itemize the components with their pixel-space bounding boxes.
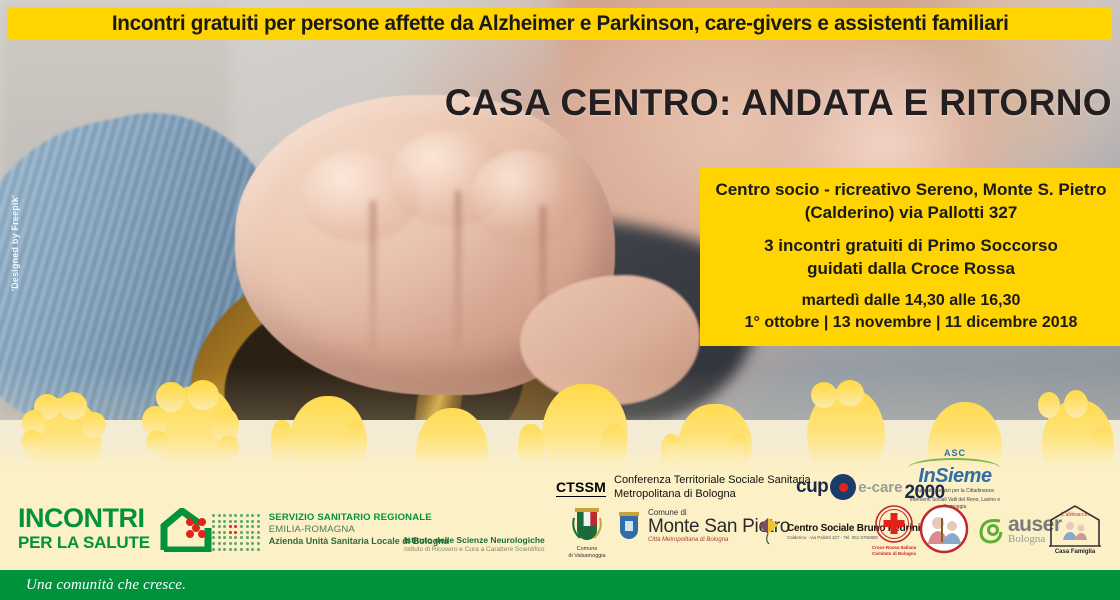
photo-credit: 'Designed by Freepik' (10, 178, 20, 308)
cri-line1: Croce Rossa Italiana (866, 545, 922, 551)
valsamoggia-line2: di Valsamoggia (556, 553, 618, 560)
event-venue-line1: Centro socio - ricreativo Sereno, Monte … (708, 178, 1114, 201)
event-description: 3 incontri gratuiti di Primo Soccorso (708, 234, 1114, 257)
logo-anziani-circle (916, 504, 972, 554)
coat-of-arms-icon (616, 509, 642, 543)
svg-text:L'abbraccio: L'abbraccio (1061, 512, 1089, 518)
top-banner: Incontri gratuiti per persone affette da… (8, 8, 1112, 40)
logo-ctssm: CTSSM Conferenza Territoriale Sociale Sa… (556, 474, 811, 502)
ssr-line1: SERVIZIO SANITARIO REGIONALE (269, 512, 449, 523)
poster: Incontri gratuiti per persone affette da… (0, 0, 1120, 600)
photo-finger-gap (455, 190, 461, 350)
ctssm-line1: Conferenza Territoriale Sociale Sanitari… (614, 474, 811, 488)
logo-asc-insieme: ASC InSieme Azienda Servizi per la Citta… (900, 452, 1010, 510)
auser-leaf-icon (976, 516, 1004, 544)
page-title: CASA CENTRO: ANDATA E RITORNO (440, 84, 1112, 123)
logo-abbraccio-casa-famiglia: L'abbraccio Casa Famiglia (1042, 502, 1108, 555)
isnb-line2: Istituto di Ricovero e Cura a Carattere … (404, 546, 545, 553)
photo-finger-gap (370, 200, 376, 350)
logo-croce-rossa-italiana: Croce Rossa Italiana Comitato di Bologna (866, 504, 922, 557)
cup-circle-icon (830, 474, 856, 500)
abbraccio-sub: Casa Famiglia (1042, 549, 1108, 555)
cri-line2: Comitato di Bologna (866, 551, 922, 557)
ctssm-line2: Metropolitana di Bologna (614, 488, 811, 502)
house-icon (160, 508, 212, 552)
logo-incontri-per-la-salute: INCONTRI PER LA SALUTE (18, 506, 198, 551)
event-dates: 1° ottobre | 13 novembre | 11 dicembre 2… (708, 312, 1114, 334)
elderly-care-icon (919, 504, 969, 554)
photo-knuckle (470, 150, 580, 244)
dots-icon (212, 514, 261, 552)
ctssm-abbr: CTSSM (556, 479, 606, 497)
event-time: martedì dalle 14,30 alle 16,30 (708, 290, 1114, 312)
isnb-line1: Istituto delle Scienze Neurologiche (404, 535, 545, 545)
top-banner-text: Incontri gratuiti per persone affette da… (112, 12, 1009, 36)
silhouette (1026, 386, 1120, 508)
logo-istituto-scienze-neurologiche: Istituto delle Scienze Neurologiche Isti… (404, 535, 545, 553)
house-family-icon: L'abbraccio (1045, 502, 1105, 548)
footer-tagline: Una comunità che cresce. (26, 577, 186, 594)
asc-sub1: Azienda Servizi per la Cittadinanza (900, 488, 1010, 495)
event-details-box: Centro socio - ricreativo Sereno, Monte … (700, 168, 1120, 346)
valsamoggia-line1: Comune (556, 546, 618, 553)
coat-of-arms-icon (570, 504, 604, 544)
event-organizer: guidati dalla Croce Rossa (708, 257, 1114, 280)
logo-comune-valsamoggia: Comune di Valsamoggia (556, 504, 618, 560)
silhouette (10, 390, 118, 508)
ssr-line2: EMILIA-ROMAGNA (269, 524, 449, 535)
silhouette (138, 380, 256, 508)
event-venue-line2: (Calderino) via Pallotti 327 (708, 201, 1114, 224)
red-cross-icon (874, 504, 914, 544)
silhouette (272, 386, 384, 508)
asc-abbr: ASC (900, 448, 1010, 458)
cup-word: cup (796, 476, 828, 498)
kite-icon (756, 516, 782, 546)
ecare-word: e-care (858, 480, 902, 495)
asc-arc-icon: ASC (900, 452, 1010, 468)
footer-green-bar: Una comunità che cresce. (0, 570, 1120, 600)
